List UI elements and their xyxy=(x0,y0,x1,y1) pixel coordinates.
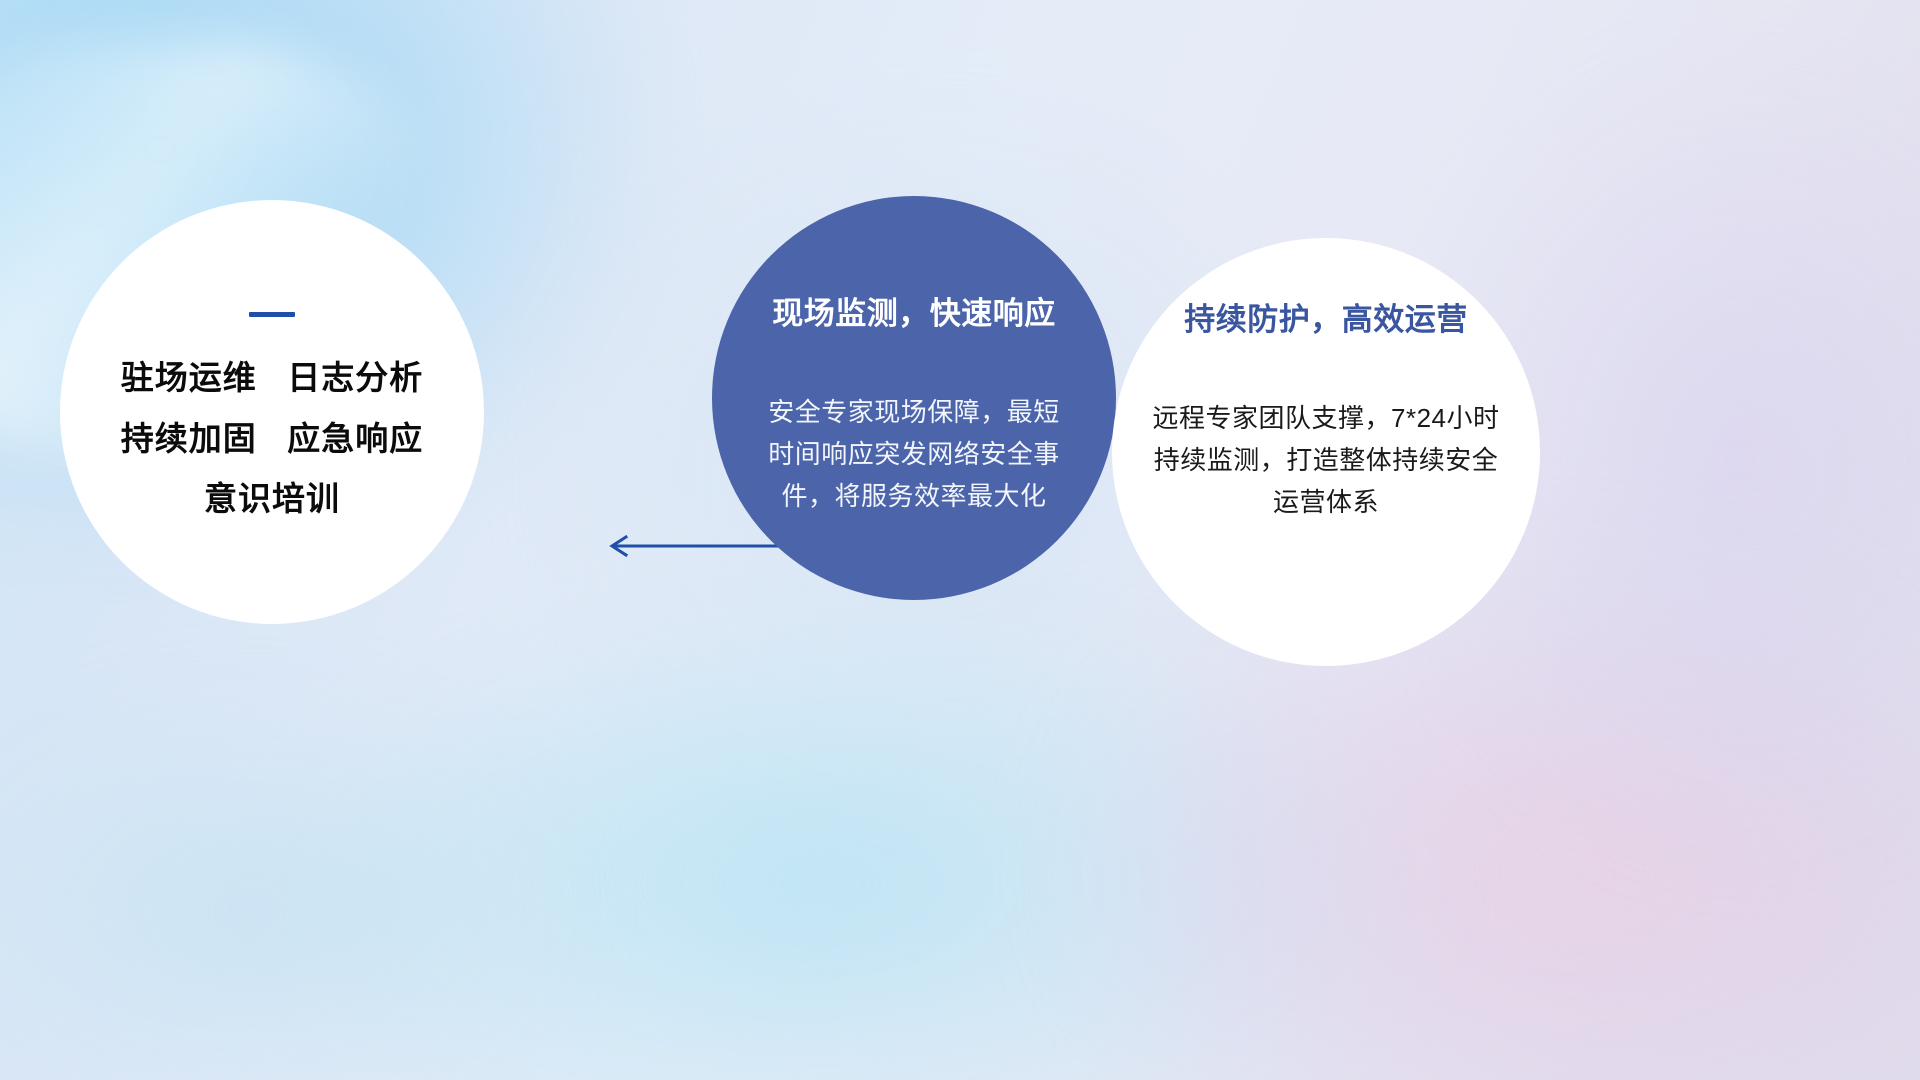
right-circle-title: 持续防护，高效运营 xyxy=(1184,294,1468,339)
left-keyword-line-3: 意识培训 xyxy=(204,482,340,517)
left-service-circle[interactable]: 驻场运维 日志分析 持续加固 应急响应 意识培训 xyxy=(60,200,484,624)
left-keyword-line-1: 驻场运维 日志分析 xyxy=(121,361,424,396)
right-circle-body: 远程专家团队支撑，7*24小时持续监测，打造整体持续安全运营体系 xyxy=(1150,397,1502,523)
middle-circle-title: 现场监测，快速响应 xyxy=(772,288,1056,333)
right-service-circle[interactable]: 持续防护，高效运营 远程专家团队支撑，7*24小时持续监测，打造整体持续安全运营… xyxy=(1112,238,1540,666)
accent-dash-icon xyxy=(249,312,295,317)
middle-circle-body: 安全专家现场保障，最短时间响应突发网络安全事件，将服务效率最大化 xyxy=(764,391,1064,517)
left-keyword-line-2: 持续加固 应急响应 xyxy=(121,422,424,457)
middle-service-circle[interactable]: 现场监测，快速响应 安全专家现场保障，最短时间响应突发网络安全事件，将服务效率最… xyxy=(712,196,1116,600)
slide-canvas: 驻场运维 日志分析 持续加固 应急响应 意识培训 现场监测，快速响应 安全专家现… xyxy=(0,0,1920,1080)
left-circle-keyword-list: 驻场运维 日志分析 持续加固 应急响应 意识培训 xyxy=(60,361,484,517)
